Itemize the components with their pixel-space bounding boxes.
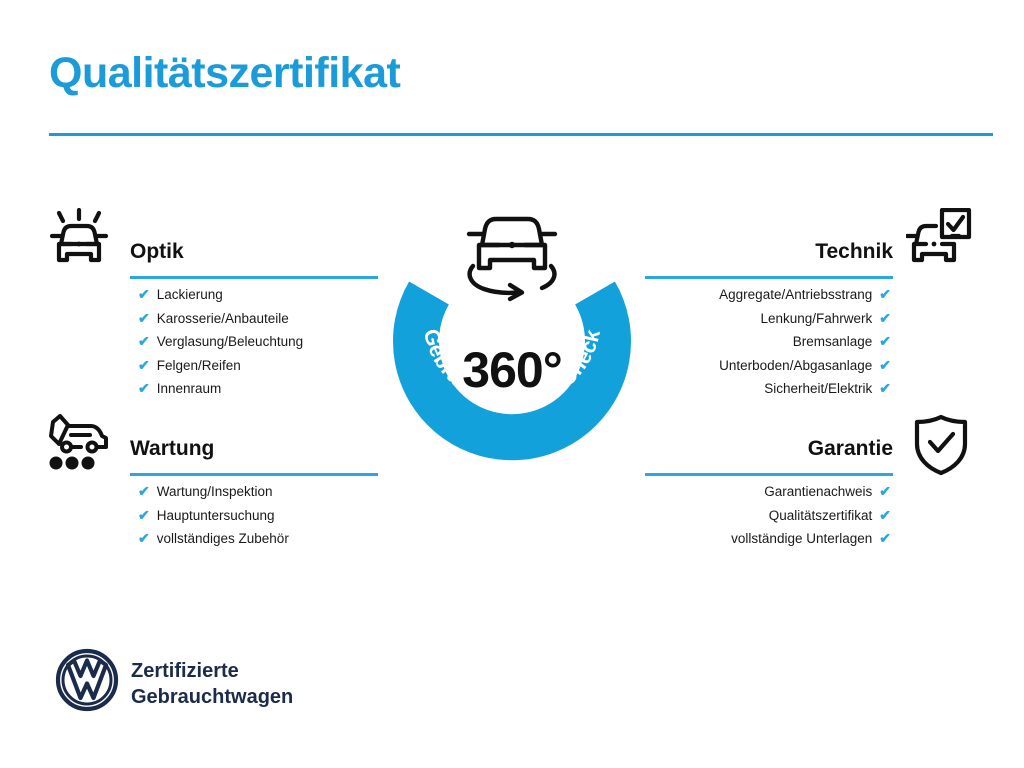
check-icon: ✔ [879,504,891,528]
pen-car-service-icon [47,414,111,477]
list-item: Sicherheit/Elektrik✔ [645,377,891,401]
check-icon: ✔ [138,504,150,528]
section-wartung: Wartung ✔Wartung/Inspektion ✔Hauptunters… [130,434,378,551]
check-icon: ✔ [879,354,891,378]
list-item: ✔vollständiges Zubehör [138,527,378,551]
list-item-label: Qualitätszertifikat [769,504,873,528]
list-item-label: Felgen/Reifen [157,354,241,378]
list-item-label: Verglasung/Beleuchtung [157,330,303,354]
list-item-label: Garantienachweis [764,480,872,504]
check-icon: ✔ [879,283,891,307]
section-optik: Optik ✔Lackierung ✔Karosserie/Anbauteile… [130,237,378,401]
list-item-label: Unterboden/Abgasanlage [719,354,872,378]
section-underline-optik [130,276,378,279]
section-header-optik: Optik [130,237,378,283]
checklist-optik: ✔Lackierung ✔Karosserie/Anbauteile ✔Verg… [130,283,378,401]
section-underline-garantie [645,473,893,476]
checklist-garantie: Garantienachweis✔ Qualitätszertifikat✔ v… [645,480,893,551]
check-icon: ✔ [138,330,150,354]
section-header-garantie: Garantie [645,434,893,480]
check-icon: ✔ [138,527,150,551]
check-icon: ✔ [879,527,891,551]
list-item: ✔Verglasung/Beleuchtung [138,330,378,354]
car-front-checkbox-icon [906,208,972,275]
list-item: Aggregate/Antriebsstrang✔ [645,283,891,307]
list-item: ✔Innenraum [138,377,378,401]
list-item: ✔Karosserie/Anbauteile [138,307,378,331]
section-title-garantie: Garantie [645,434,893,464]
list-item: ✔Lackierung [138,283,378,307]
section-title-optik: Optik [130,237,378,267]
list-item: Unterboden/Abgasanlage✔ [645,354,891,378]
list-item: ✔Hauptuntersuchung [138,504,378,528]
check-icon: ✔ [138,480,150,504]
vw-wordmark-line2: Gebrauchtwagen [131,684,293,710]
list-item-label: Innenraum [157,377,222,401]
list-item: ✔Felgen/Reifen [138,354,378,378]
shield-check-icon [913,414,969,481]
car-rotate-360-icon [452,196,572,304]
checklist-technik: Aggregate/Antriebsstrang✔ Lenkung/Fahrwe… [645,283,893,401]
volkswagen-logo [55,648,119,717]
certificate-page: Qualitätszertifikat [0,0,1024,768]
list-item: Qualitätszertifikat✔ [645,504,891,528]
list-item: Garantienachweis✔ [645,480,891,504]
section-header-wartung: Wartung [130,434,378,480]
list-item-label: Wartung/Inspektion [157,480,273,504]
check-icon: ✔ [138,354,150,378]
section-underline-wartung [130,473,378,476]
list-item-label: Lenkung/Fahrwerk [760,307,872,331]
section-title-technik: Technik [645,237,893,267]
list-item: Bremsanlage✔ [645,330,891,354]
list-item-label: Karosserie/Anbauteile [157,307,289,331]
vw-wordmark-line1: Zertifizierte [131,658,293,684]
list-item: ✔Wartung/Inspektion [138,480,378,504]
checklist-wartung: ✔Wartung/Inspektion ✔Hauptuntersuchung ✔… [130,480,378,551]
badge-value: 360° [381,341,643,399]
check-icon: ✔ [138,377,150,401]
vw-wordmark: Zertifizierte Gebrauchtwagen [131,658,293,710]
page-title: Qualitätszertifikat [49,50,400,97]
list-item-label: Sicherheit/Elektrik [764,377,872,401]
check-icon: ✔ [138,283,150,307]
list-item-label: vollständiges Zubehör [157,527,289,551]
list-item-label: Aggregate/Antriebsstrang [719,283,872,307]
list-item: vollständige Unterlagen✔ [645,527,891,551]
check-icon: ✔ [879,377,891,401]
car-front-shine-icon [47,208,111,275]
list-item: Lenkung/Fahrwerk✔ [645,307,891,331]
section-title-wartung: Wartung [130,434,378,464]
list-item-label: Hauptuntersuchung [157,504,275,528]
section-underline-technik [645,276,893,279]
check-icon: ✔ [879,307,891,331]
check-icon: ✔ [879,480,891,504]
list-item-label: vollständige Unterlagen [731,527,872,551]
section-garantie: Garantie Garantienachweis✔ Qualitätszert… [645,434,893,551]
header-divider [49,133,993,136]
section-technik: Technik Aggregate/Antriebsstrang✔ Lenkun… [645,237,893,401]
list-item-label: Lackierung [157,283,223,307]
list-item-label: Bremsanlage [793,330,873,354]
section-header-technik: Technik [645,237,893,283]
check-icon: ✔ [138,307,150,331]
check-icon: ✔ [879,330,891,354]
